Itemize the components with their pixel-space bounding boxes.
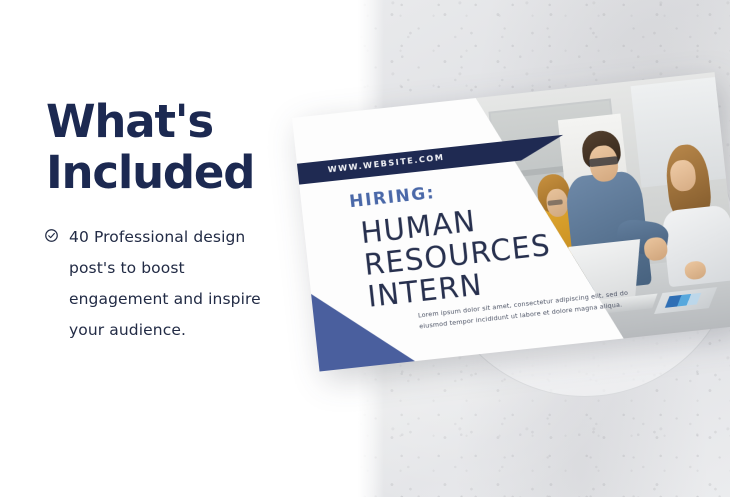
- card-eyebrow: HIRING:: [348, 183, 436, 212]
- flyer-card[interactable]: WWW.WEBSITE.COM HIRING: HUMAN RESOURCES …: [292, 72, 730, 371]
- flyer-card-surface: WWW.WEBSITE.COM HIRING: HUMAN RESOURCES …: [292, 72, 730, 371]
- page-title: What's Included: [46, 96, 336, 198]
- list-item: 40 Professional design post's to boost e…: [44, 222, 284, 346]
- list-item-label: 40 Professional design post's to boost e…: [69, 222, 284, 346]
- slide-canvas: What's Included 40 Professional design p…: [0, 0, 730, 497]
- left-content-panel: What's Included 40 Professional design p…: [0, 0, 358, 497]
- check-circle-icon: [44, 228, 59, 248]
